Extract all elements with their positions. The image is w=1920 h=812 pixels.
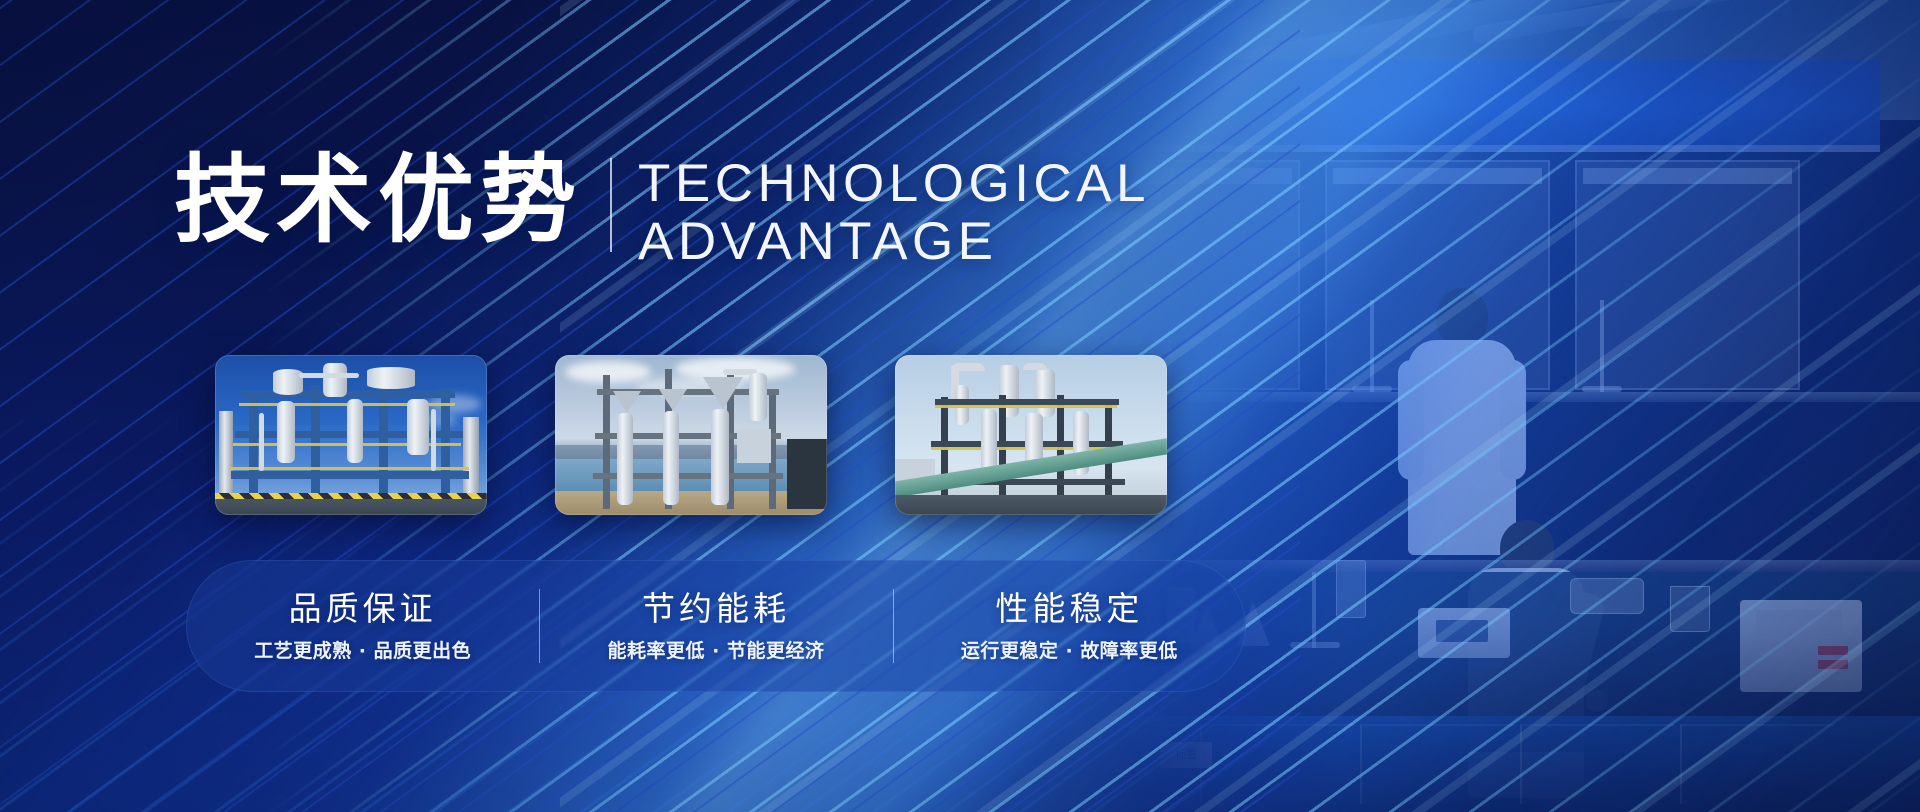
- cyclone-separator: [703, 377, 743, 409]
- utility-building: [787, 439, 827, 509]
- heading-title-english: TECHNOLOGICAL ADVANTAGE: [638, 150, 1150, 270]
- condenser-column: [1035, 369, 1055, 417]
- steel-column: [603, 375, 610, 509]
- horizontal-drum: [367, 367, 415, 389]
- feature-title: 节约能耗: [553, 589, 878, 629]
- process-pipe: [259, 413, 264, 471]
- feature-title: 性能稳定: [907, 589, 1232, 629]
- vent-elbow: [951, 363, 985, 371]
- cyclone-separator: [659, 389, 687, 411]
- process-pipe: [299, 373, 359, 378]
- reactor-column: [277, 401, 295, 463]
- evaporator-tube: [711, 409, 729, 505]
- feature-title: 品质保证: [200, 589, 525, 629]
- process-vessel: [273, 369, 303, 395]
- facility-card[interactable]: [215, 355, 487, 515]
- plant-ground: [895, 495, 1167, 515]
- heading-english-line-1: TECHNOLOGICAL: [638, 156, 1150, 212]
- reactor-column: [347, 399, 363, 463]
- feature-item-quality[interactable]: 品质保证 工艺更成熟 · 品质更出色: [186, 589, 539, 663]
- hazard-stripe-kerb: [215, 493, 487, 499]
- control-box: [737, 429, 771, 463]
- feature-item-energy[interactable]: 节约能耗 能耗率更低 · 节能更经济: [539, 589, 892, 663]
- facility-photo-cards: [215, 355, 1167, 515]
- feature-highlight-bar: 品质保证 工艺更成熟 · 品质更出色 节约能耗 能耗率更低 · 节能更经济 性能…: [186, 560, 1246, 692]
- facility-card[interactable]: [555, 355, 827, 515]
- cyclone-separator: [613, 391, 641, 413]
- vapour-elbow: [1023, 363, 1047, 370]
- banner-heading: 技术优势 TECHNOLOGICAL ADVANTAGE: [174, 150, 1150, 270]
- feature-item-stability[interactable]: 性能稳定 运行更稳定 · 故障率更低: [893, 589, 1246, 663]
- evaporator-tube: [617, 413, 633, 505]
- steel-beam: [231, 471, 469, 479]
- heading-divider: [610, 158, 612, 252]
- process-vessel: [323, 363, 347, 397]
- feature-subtitle: 工艺更成熟 · 品质更出色: [200, 636, 525, 663]
- feature-subtitle: 运行更稳定 · 故障率更低: [907, 636, 1232, 663]
- process-pipe: [431, 409, 436, 471]
- evaporator-tube: [663, 411, 679, 505]
- yellow-handrail: [935, 405, 1117, 408]
- technological-advantage-banner: 标签 技术优势 TECHNOLOGICAL ADVANTAGE: [0, 0, 1920, 812]
- heading-english-line-2: ADVANTAGE: [638, 214, 1150, 270]
- vapour-separator: [749, 373, 767, 421]
- heading-title-chinese: 技术优势: [174, 150, 582, 252]
- feature-subtitle: 能耗率更低 · 节能更经济: [553, 636, 878, 663]
- facility-card[interactable]: [895, 355, 1167, 515]
- reactor-column: [407, 399, 429, 455]
- banner-content: 技术优势 TECHNOLOGICAL ADVANTAGE: [0, 0, 1920, 812]
